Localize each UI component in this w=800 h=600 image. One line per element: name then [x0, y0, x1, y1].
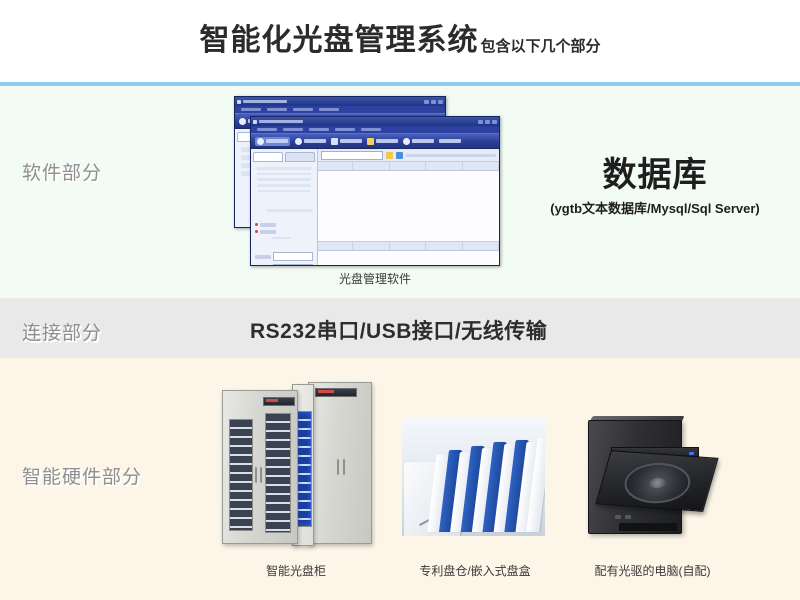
window-title-text: [243, 100, 287, 103]
database-subtitle: (ygtb文本数据库/Mysql/Sql Server): [520, 198, 790, 217]
toolbar-button-search[interactable]: [403, 138, 434, 145]
window-title-group: [237, 100, 287, 104]
window-body: [251, 149, 499, 266]
highlighted-input[interactable]: [273, 264, 313, 266]
app-icon: [253, 120, 257, 124]
connection-methods-text: RS232串口/USB接口/无线传输: [250, 315, 547, 345]
menu-item[interactable]: [335, 128, 355, 131]
software-screenshot-caption: 光盘管理软件: [230, 270, 520, 287]
spindle-hub: [648, 478, 667, 489]
required-marker-icon: [255, 223, 258, 226]
menu-item[interactable]: [283, 128, 303, 131]
menu-item[interactable]: [319, 108, 339, 111]
app-icon: [237, 100, 241, 104]
section-label-hardware: 智能硬件部分: [22, 462, 142, 489]
secondary-table-body[interactable]: [318, 251, 499, 266]
database-title: 数据库: [520, 158, 790, 194]
close-button[interactable]: [492, 120, 497, 124]
database-block: 数据库 (ygtb文本数据库/Mysql/Sql Server): [520, 158, 790, 217]
window-side-panel: [251, 149, 318, 266]
software-window-front[interactable]: [250, 116, 500, 266]
power-led-icon: [689, 452, 694, 455]
disc-tray-scene: [402, 418, 545, 536]
cabinet-display-panel: [315, 388, 357, 397]
cabinet-shelves-blue-lit: [297, 412, 311, 526]
cabinet-handle: [255, 467, 257, 483]
menu-item[interactable]: [309, 128, 329, 131]
cabinet-handle: [260, 467, 262, 483]
content-search-bar: [318, 149, 499, 162]
front-panel-button[interactable]: [615, 515, 621, 519]
hardware-caption-computer: 配有光驱的电脑(自配): [565, 562, 740, 579]
software-screenshot-stack: [230, 96, 520, 266]
hardware-caption-cabinet: 智能光盘柜: [216, 562, 376, 579]
computer-case-base: [619, 523, 677, 531]
field-label: [255, 255, 271, 259]
cabinet-glass-window-right: [265, 413, 291, 533]
search-input[interactable]: [321, 151, 383, 160]
optical-drive-open-tray[interactable]: [595, 450, 718, 512]
side-panel-field-row: [271, 237, 291, 240]
cabinet-display-panel: [263, 397, 295, 406]
table-column-header[interactable]: [318, 162, 353, 170]
table-column-header[interactable]: [427, 162, 462, 170]
cabinet-handle: [337, 459, 339, 475]
photo-smart-disc-cabinet: [216, 378, 376, 550]
menu-item[interactable]: [293, 108, 313, 111]
maximize-button[interactable]: [485, 120, 490, 124]
side-panel-field-row: [257, 184, 311, 187]
cabinet-left: [222, 390, 298, 544]
cabinet-shelves: [230, 420, 252, 530]
window-controls: [424, 100, 443, 104]
hardware-caption-magazine: 专利盘仓/嵌入式盘盒: [395, 562, 555, 579]
table-column-header[interactable]: [391, 162, 426, 170]
cabinet-scene: [216, 378, 376, 550]
table-column-header[interactable]: [391, 242, 426, 250]
side-panel-field-row: [257, 167, 311, 170]
table-column-header[interactable]: [318, 242, 353, 250]
table-column-header[interactable]: [464, 242, 499, 250]
secondary-table-header-row: [318, 242, 499, 251]
table-body[interactable]: [318, 171, 499, 242]
poster-root: 智能化光盘管理系统 包含以下几个部分 软件部分 连接部分 智能硬件部分 数据库 …: [0, 0, 800, 600]
toolbar-button-disc-in[interactable]: [255, 137, 290, 146]
close-button[interactable]: [438, 100, 443, 104]
cabinet-glass-window-left: [229, 419, 253, 531]
window-titlebar: [235, 97, 445, 106]
form-field-row: [255, 252, 313, 261]
table-column-header[interactable]: [354, 242, 389, 250]
window-content-area: [318, 149, 499, 266]
minimize-button[interactable]: [478, 120, 483, 124]
search-go-icon[interactable]: [386, 152, 393, 159]
window-title-group: [253, 120, 303, 124]
toolbar-button-disc-out[interactable]: [295, 138, 326, 145]
table-header-row: [318, 162, 499, 171]
menu-item[interactable]: [267, 108, 287, 111]
window-title-text: [259, 120, 303, 123]
page-title-main: 智能化光盘管理系统: [199, 26, 478, 56]
table-column-header[interactable]: [354, 162, 389, 170]
toolbar-button-disc-query[interactable]: [331, 138, 362, 145]
cabinet-glass-window-lit: [296, 411, 312, 527]
window-controls: [478, 120, 497, 124]
cabinet-handle: [343, 459, 345, 475]
side-panel-note: [267, 209, 313, 212]
window-toolbar: [251, 133, 499, 149]
side-panel-field-row: [257, 178, 311, 181]
menu-item[interactable]: [241, 108, 261, 111]
table-column-header[interactable]: [427, 242, 462, 250]
photo-patented-disc-magazine: [402, 418, 545, 536]
window-menubar: [251, 126, 499, 133]
disc-spindle: [619, 461, 695, 506]
form-field-row-highlighted: [255, 264, 313, 266]
filter-icon[interactable]: [396, 152, 403, 159]
menu-item[interactable]: [257, 128, 277, 131]
side-panel-field-row: [257, 190, 311, 193]
page-title-subtitle: 包含以下几个部分: [480, 35, 600, 56]
side-panel-required-row: [255, 223, 313, 227]
front-panel-button[interactable]: [625, 515, 631, 519]
field-label: [260, 230, 276, 234]
required-marker-icon: [255, 230, 258, 233]
page-title: 智能化光盘管理系统 包含以下几个部分: [0, 0, 800, 82]
cabinet-shelves: [266, 414, 290, 532]
menu-item[interactable]: [361, 128, 381, 131]
table-column-header[interactable]: [464, 162, 499, 170]
computer-scene: [572, 412, 727, 540]
maximize-button[interactable]: [431, 100, 436, 104]
search-hint-text: [406, 154, 496, 157]
window-titlebar: [251, 117, 499, 126]
section-label-software: 软件部分: [22, 158, 102, 185]
minimize-button[interactable]: [424, 100, 429, 104]
text-input[interactable]: [273, 252, 313, 261]
toolbar-button-exit[interactable]: [439, 139, 461, 143]
window-menubar: [235, 106, 445, 113]
section-label-connection: 连接部分: [22, 318, 102, 345]
side-tab-basic-info[interactable]: [253, 152, 283, 162]
field-label: [260, 223, 276, 227]
toolbar-button-settings[interactable]: [367, 138, 398, 145]
side-panel-required-row: [255, 230, 313, 234]
side-tab-disc-info[interactable]: [285, 152, 315, 162]
cabinet-right: [308, 382, 372, 544]
side-panel-tabs: [253, 152, 315, 162]
photo-computer-with-optical-drive: [572, 412, 727, 540]
side-panel-field-row: [257, 173, 311, 176]
